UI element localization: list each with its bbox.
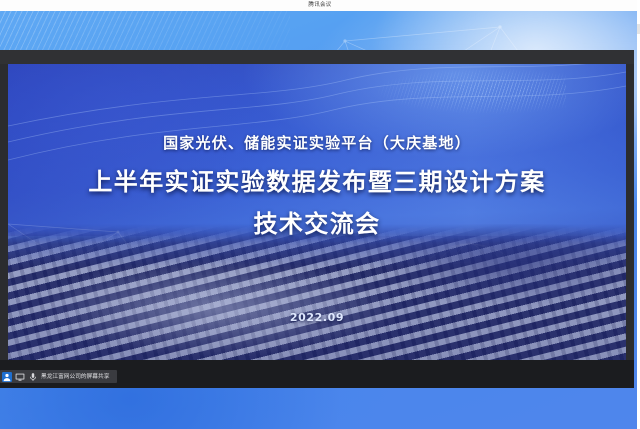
- slide-subtitle: 国家光伏、储能实证实验平台（大庆基地）: [8, 132, 626, 153]
- window-titlebar: 腾讯会议: [0, 0, 640, 11]
- share-frame-top-edge: [0, 50, 634, 64]
- monitor-icon: [15, 372, 25, 382]
- user-icon: [2, 372, 12, 382]
- shared-presentation-slide: 国家光伏、储能实证实验平台（大庆基地） 上半年实证实验数据发布暨三期设计方案 技…: [8, 64, 626, 360]
- slide-headline-line-1: 上半年实证实验数据发布暨三期设计方案: [8, 162, 626, 197]
- slide-headline-line-2: 技术交流会: [8, 204, 626, 239]
- screen-share-viewport[interactable]: 国家光伏、储能实证实验平台（大庆基地） 上半年实证实验数据发布暨三期设计方案 技…: [0, 50, 634, 388]
- slide-date-badge: 2022.09: [8, 308, 626, 326]
- share-status-label: 黑龙江富网公司的屏幕共享: [41, 372, 109, 381]
- meeting-app-window: 腾讯会议: [0, 0, 640, 429]
- slide-solar-haze: [8, 224, 626, 360]
- slide-mesh-decoration: [376, 68, 566, 114]
- app-title: 腾讯会议: [26, 1, 615, 8]
- screen-share-status-bar[interactable]: 黑龙江富网公司的屏幕共享: [0, 370, 117, 383]
- microphone-icon: [28, 372, 38, 382]
- slide-date-text: 2022.09: [290, 311, 344, 324]
